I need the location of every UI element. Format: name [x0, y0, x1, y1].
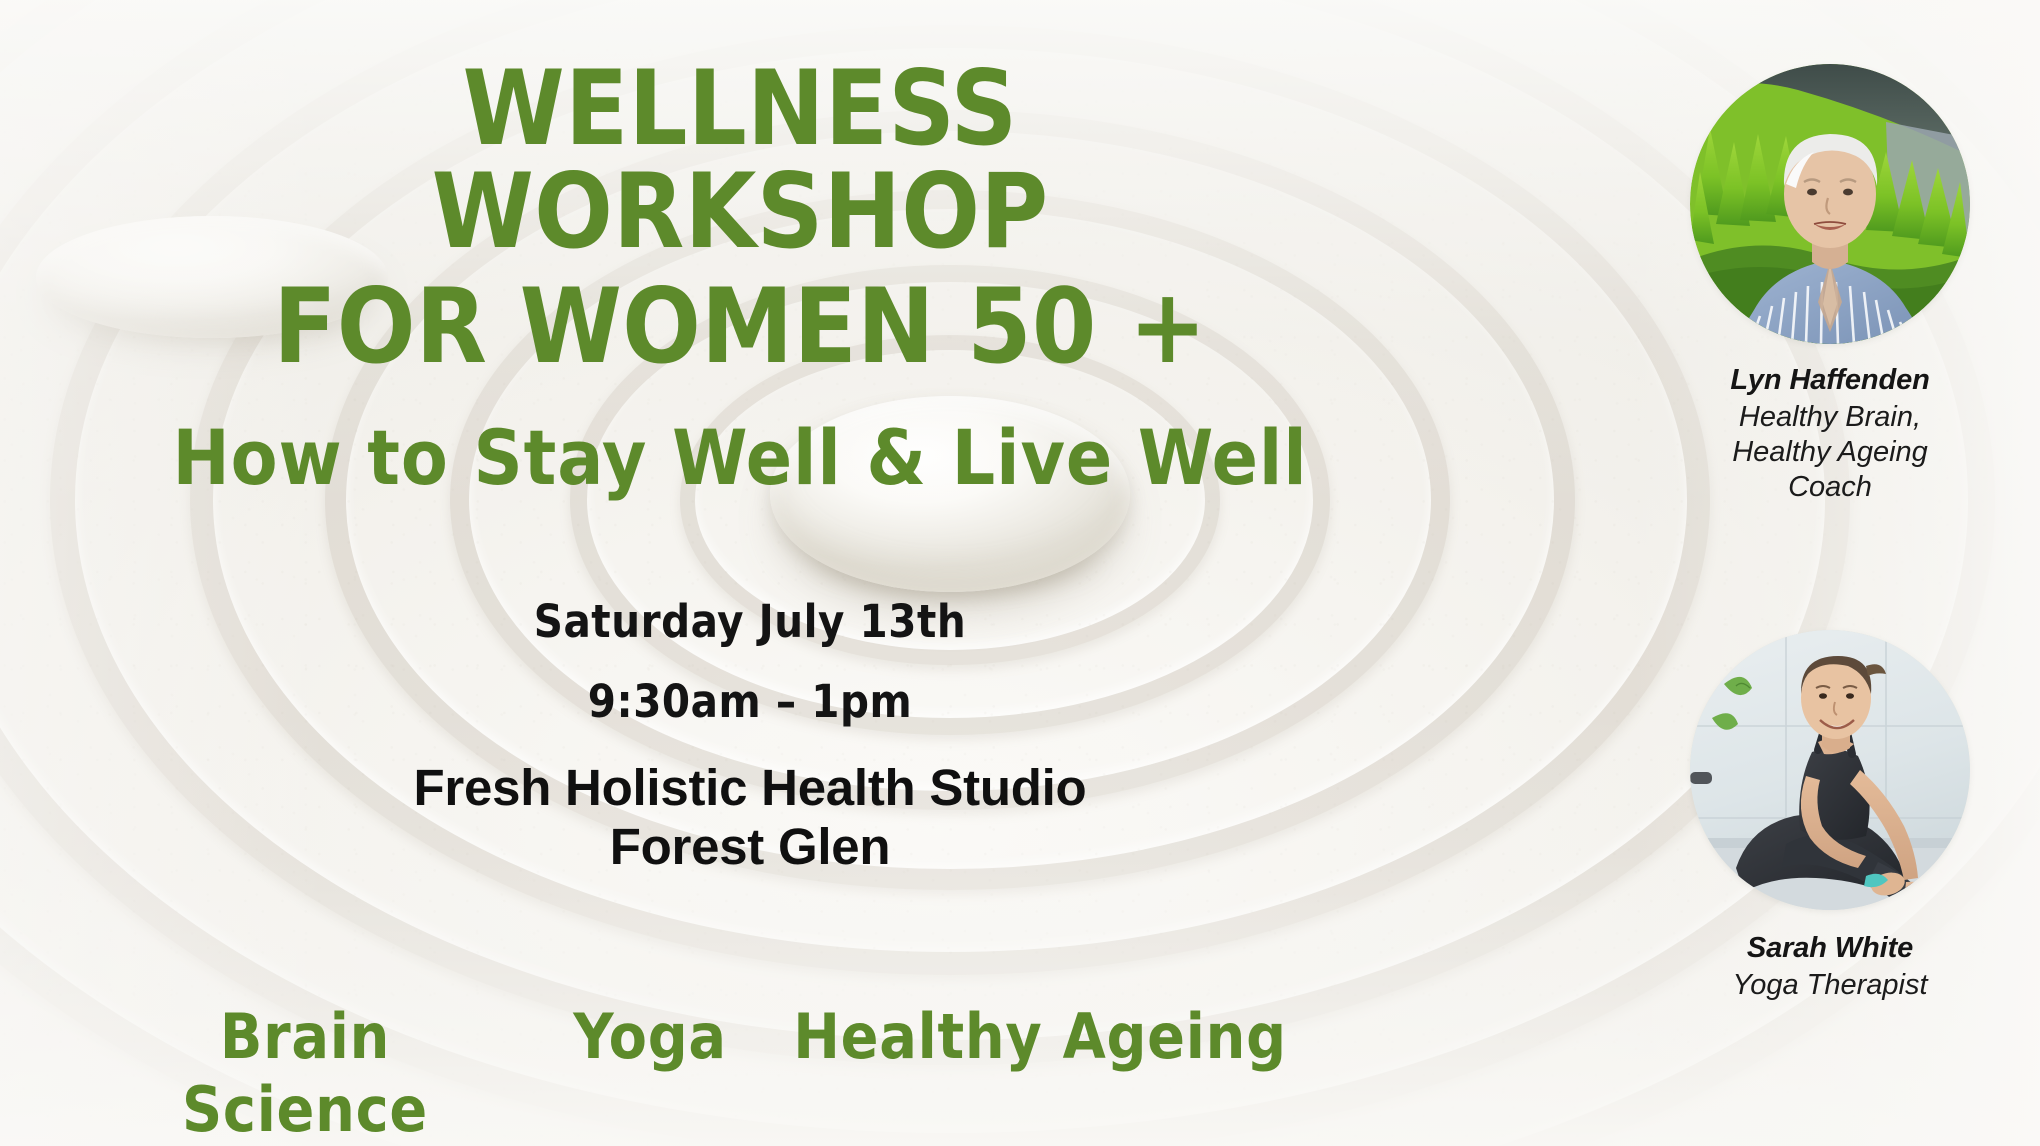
- presenter-role-lyn-line-3: Coach: [1660, 470, 2000, 505]
- presenter-lyn-haffenden: Lyn Haffenden Healthy Brain, Healthy Age…: [1660, 64, 2000, 505]
- subheadline: How to Stay Well & Live Well: [150, 418, 1330, 498]
- presenter-role-lyn-line-1: Healthy Brain,: [1660, 400, 2000, 435]
- presenter-role-sarah-line-1: Yoga Therapist: [1660, 968, 2000, 1003]
- headline: WELLNESS WORKSHOP FOR WOMEN 50 +: [150, 58, 1330, 379]
- presenter-role-lyn: Healthy Brain, Healthy Ageing Coach: [1660, 400, 2000, 505]
- presenter-name-sarah: Sarah White: [1660, 932, 2000, 965]
- topic-brain-science: Brain Science: [90, 1000, 520, 1146]
- topic-yoga: Yoga: [520, 1000, 780, 1073]
- presenter-role-sarah: Yoga Therapist: [1660, 968, 2000, 1003]
- topic-healthy-ageing: Healthy Ageing: [780, 1000, 1300, 1073]
- presenter-role-lyn-line-2: Healthy Ageing: [1660, 435, 2000, 470]
- presenter-photo-lyn: [1690, 64, 1970, 344]
- event-date: Saturday July 13th: [300, 598, 1200, 646]
- presenter-photo-sarah: [1690, 630, 1970, 910]
- topic-list: Brain Science Yoga Healthy Ageing: [90, 1000, 1390, 1146]
- event-time: 9:30am – 1pm: [300, 678, 1200, 726]
- headline-line-1: WELLNESS WORKSHOP: [150, 58, 1330, 264]
- venue-suburb: Forest Glen: [300, 818, 1200, 876]
- presenter-name-lyn: Lyn Haffenden: [1660, 364, 2000, 397]
- headline-line-2: FOR WOMEN 50 +: [150, 276, 1330, 379]
- event-details: Saturday July 13th 9:30am – 1pm Fresh Ho…: [300, 598, 1200, 876]
- flyer-canvas: WELLNESS WORKSHOP FOR WOMEN 50 + How to …: [0, 0, 2040, 1146]
- presenter-sarah-white: Sarah White Yoga Therapist: [1660, 630, 2000, 1003]
- venue-name: Fresh Holistic Health Studio: [300, 759, 1200, 817]
